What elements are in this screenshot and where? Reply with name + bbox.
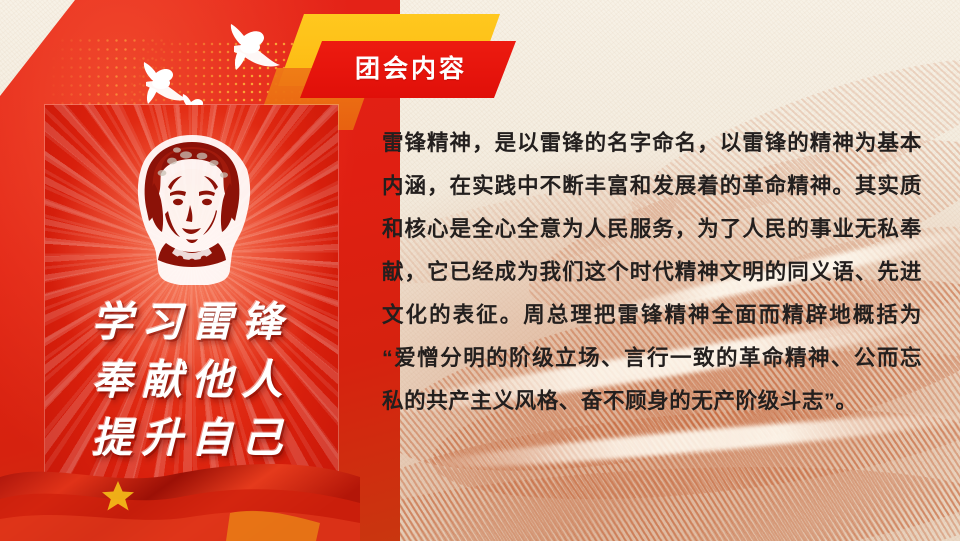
calligraphy-line-2: 奉献他人 <box>45 351 338 409</box>
calligraphy-line-3: 提升自己 <box>45 409 338 467</box>
section-title-text: 团会内容 <box>355 57 467 82</box>
lei-feng-portrait-icon <box>110 131 274 285</box>
waving-flag-bottom-decoration <box>0 461 360 541</box>
section-title-banner: 团会内容 <box>300 41 516 98</box>
calligraphy-line-1: 学习雷锋 <box>45 293 338 351</box>
content-paragraph: 雷锋精神，是以雷锋的名字命名，以雷锋的精神为基本内涵，在实践中不断丰富和发展着的… <box>382 122 922 423</box>
dove-upper-right-icon <box>206 18 284 76</box>
content-body: 雷锋精神，是以雷锋的名字命名，以雷锋的精神为基本内涵，在实践中不断丰富和发展着的… <box>382 122 922 423</box>
poster-calligraphy: 学习雷锋 奉献他人 提升自己 <box>45 293 338 468</box>
slide-canvas: 团会内容 <box>0 0 960 541</box>
